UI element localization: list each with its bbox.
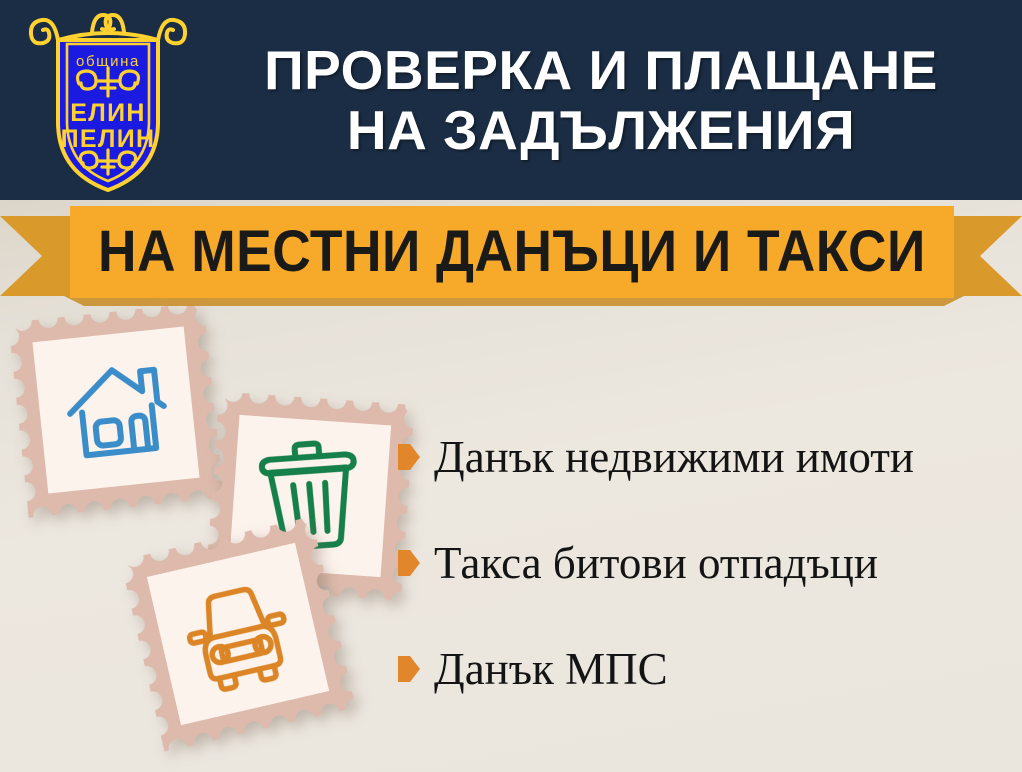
poster-canvas: община ЕЛИН ПЕЛИН	[0, 0, 1022, 772]
bullet-arrow-icon	[398, 656, 420, 682]
ribbon-label: НА МЕСТНИ ДАНЪЦИ И ТАКСИ	[98, 223, 926, 281]
bullet-arrow-icon	[398, 444, 420, 470]
list-item-label: Такса битови отпадъци	[434, 541, 878, 586]
coat-of-arms-icon: община ЕЛИН ПЕЛИН	[24, 4, 192, 196]
ribbon-box: НА МЕСТНИ ДАНЪЦИ И ТАКСИ	[70, 206, 954, 298]
stamp-card-property	[8, 302, 223, 517]
title-line-1: ПРОВЕРКА И ПЛАЩАНЕ	[264, 41, 938, 101]
list-item-label: Данък МПС	[434, 647, 668, 692]
tax-type-list: Данък недвижими имоти Такса битови отпад…	[398, 424, 1010, 742]
bullet-arrow-icon	[398, 550, 420, 576]
stamp-frame-house	[8, 302, 223, 517]
svg-text:ЕЛИН: ЕЛИН	[70, 99, 145, 127]
title-line-2: НА ЗАДЪЛЖЕНИЯ	[347, 101, 855, 161]
page-title: ПРОВЕРКА И ПЛАЩАНЕ НА ЗАДЪЛЖЕНИЯ	[196, 16, 1006, 186]
list-item[interactable]: Данък недвижими имоти	[398, 424, 1010, 490]
list-item[interactable]: Данък МПС	[398, 636, 1010, 702]
list-item-label: Данък недвижими имоти	[434, 435, 914, 480]
ribbon-banner: НА МЕСТНИ ДАНЪЦИ И ТАКСИ	[0, 200, 1022, 308]
header-band: община ЕЛИН ПЕЛИН	[0, 0, 1022, 200]
list-item[interactable]: Такса битови отпадъци	[398, 530, 1010, 596]
